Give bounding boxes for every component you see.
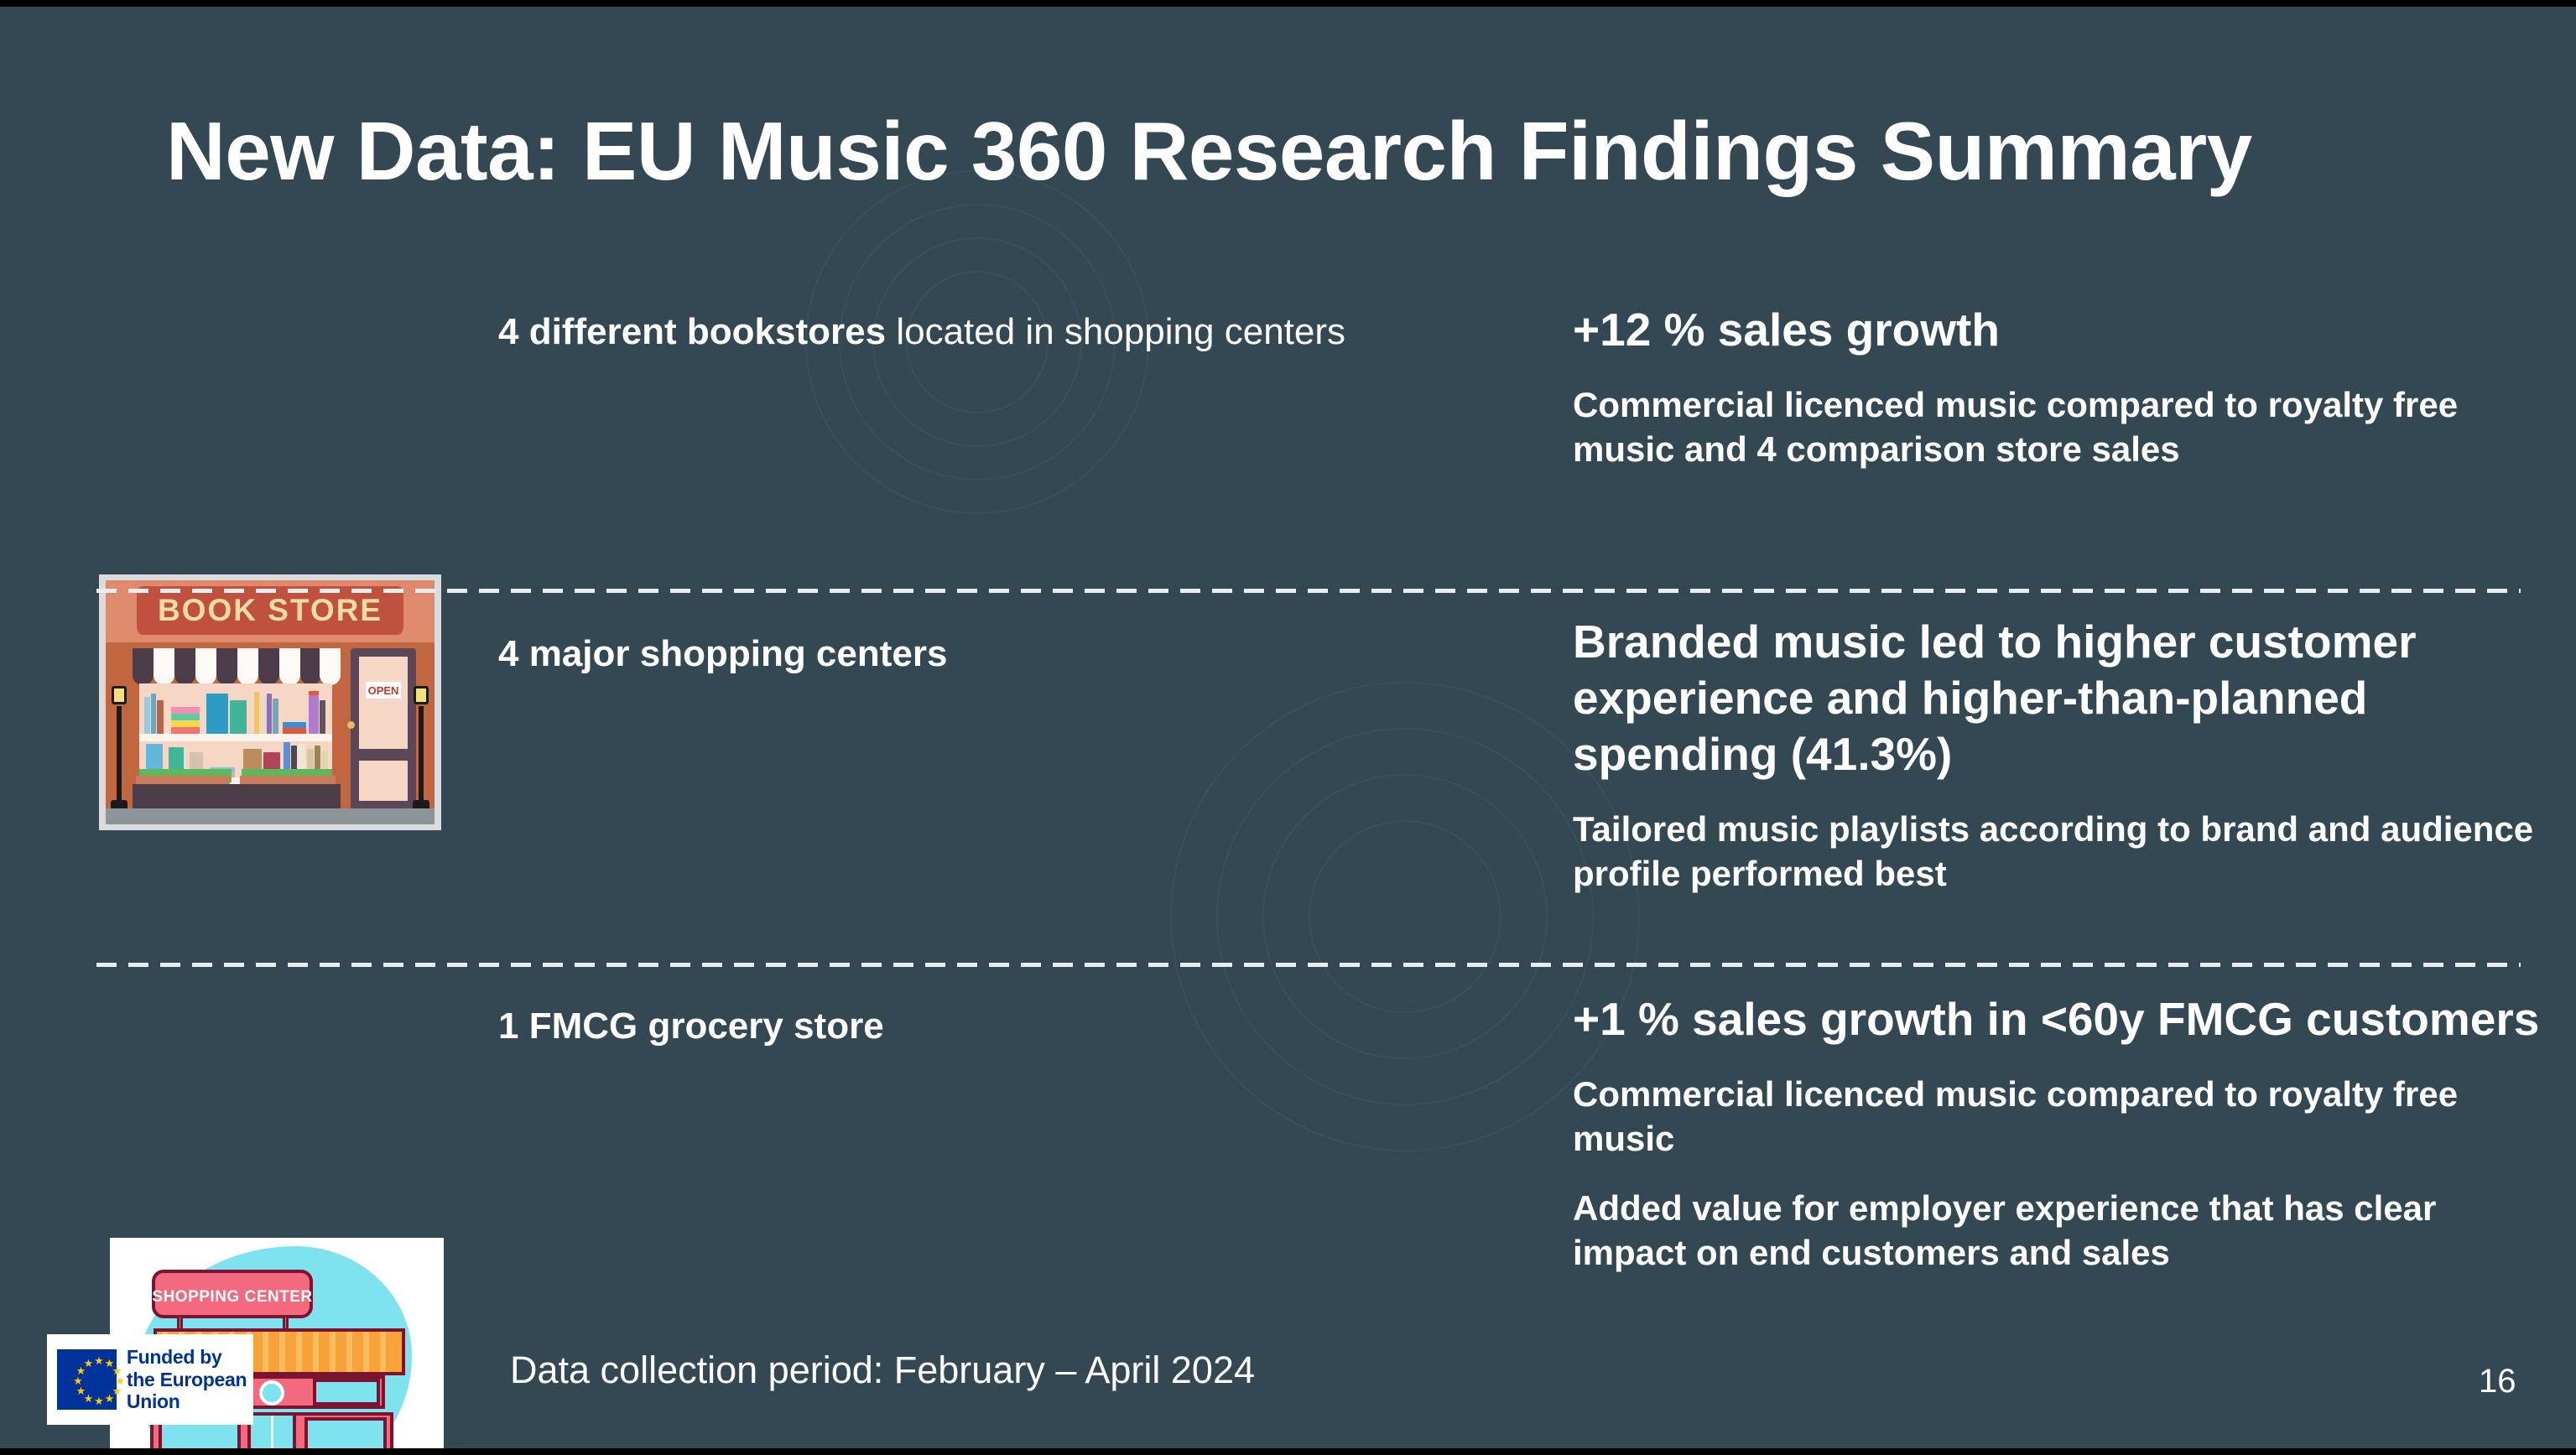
grocery-label: 1 FMCG grocery store	[498, 1003, 1488, 1049]
eu-funding-text: Funded by the European Union	[127, 1346, 253, 1413]
bookstore-detail-1: Commercial licenced music compared to ro…	[1573, 383, 2546, 472]
grocery-findings: +1 % sales growth in <60y FMCG customers…	[1573, 991, 2546, 1276]
findings-row-bookstore: BOOK STORE	[0, 283, 2576, 585]
row-divider	[96, 589, 2521, 593]
eu-funding-logo: ★ ★ ★ ★ ★ ★ ★ ★ ★ ★ ★ ★ Funded by the Eu…	[47, 1334, 253, 1425]
bookstore-label-bold: 4 different bookstores	[498, 311, 886, 352]
slide-canvas: New Data: EU Music 360 Research Findings…	[0, 7, 2576, 1448]
bookstore-headline: +12 % sales growth	[1573, 302, 2546, 358]
row-divider	[96, 963, 2521, 967]
shopping-center-findings: Branded music led to higher customer exp…	[1573, 614, 2558, 896]
findings-row-grocery: 1 FMCG grocery store +1 % sales growth i…	[0, 980, 2576, 1374]
shopping-center-label: 4 major shopping centers	[498, 631, 1488, 677]
page-number: 16	[2479, 1363, 2516, 1400]
grocery-detail-2: Added value for employer experience that…	[1573, 1187, 2546, 1276]
grocery-label-bold: 1 FMCG grocery store	[498, 1006, 884, 1047]
grocery-headline: +1 % sales growth in <60y FMCG customers	[1573, 991, 2546, 1047]
bookstore-findings: +12 % sales growth Commercial licenced m…	[1573, 302, 2546, 472]
eu-funding-line-1: Funded by	[127, 1346, 253, 1369]
shopping-center-headline: Branded music led to higher customer exp…	[1573, 614, 2558, 782]
shopping-center-label-bold: 4 major shopping centers	[498, 633, 947, 674]
grocery-detail-1: Commercial licenced music compared to ro…	[1573, 1073, 2546, 1161]
findings-row-shopping-center: SHOPPING CENTER 4 major shopping centers	[0, 607, 2576, 976]
bookstore-label: 4 different bookstores located in shoppi…	[498, 309, 1488, 355]
bookstore-label-rest: located in shopping centers	[886, 311, 1345, 352]
page-title: New Data: EU Music 360 Research Findings…	[166, 101, 2481, 201]
data-collection-note: Data collection period: February – April…	[510, 1348, 1255, 1392]
eu-funding-line-2: the European Union	[127, 1369, 253, 1413]
eu-flag-icon: ★ ★ ★ ★ ★ ★ ★ ★ ★ ★ ★ ★	[57, 1349, 117, 1410]
shopping-center-detail-1: Tailored music playlists according to br…	[1573, 808, 2558, 896]
